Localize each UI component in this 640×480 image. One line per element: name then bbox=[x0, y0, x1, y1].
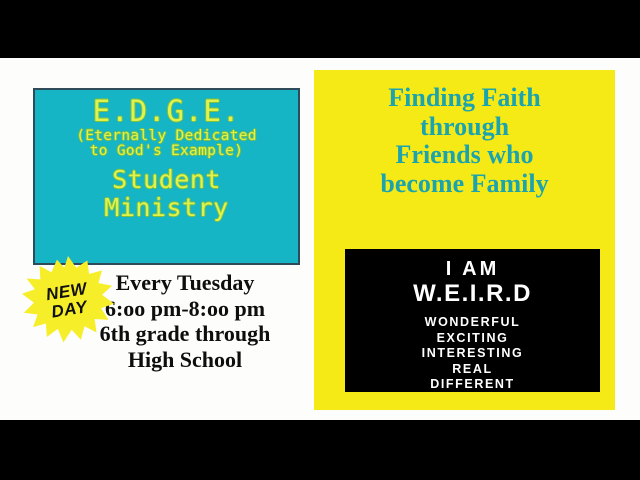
edge-name-line-2: Ministry bbox=[104, 195, 228, 221]
faith-heading-line-3: Friends who bbox=[322, 141, 607, 170]
weird-head-line-2: W.E.I.R.D bbox=[413, 281, 532, 306]
weird-meaning-list: WONDERFUL EXCITING INTERESTING REAL DIFF… bbox=[422, 315, 524, 393]
weird-head-line-1: I AM bbox=[446, 259, 499, 280]
edge-acronym-title: E.D.G.E. bbox=[93, 96, 241, 126]
edge-subtitle-line-2: to God's Example) bbox=[90, 144, 244, 159]
letterbox-bar-bottom bbox=[0, 420, 640, 480]
weird-meaning-real: REAL bbox=[422, 362, 524, 378]
new-day-line-2: DAY bbox=[50, 298, 88, 321]
edge-name-line-1: Student bbox=[112, 167, 221, 193]
new-day-badge-text: NEW DAY bbox=[16, 249, 121, 352]
edge-subtitle-line-1: (Eternally Dedicated bbox=[76, 129, 257, 144]
letterbox-bar-top bbox=[0, 0, 640, 58]
new-day-starburst-badge: NEW DAY bbox=[22, 256, 114, 346]
weird-meaning-wonderful: WONDERFUL bbox=[422, 315, 524, 331]
faith-heading-line-2: through bbox=[322, 113, 607, 142]
faith-heading: Finding Faith through Friends who become… bbox=[314, 84, 615, 198]
faith-slogan-panel: Finding Faith through Friends who become… bbox=[314, 70, 615, 410]
weird-meaning-different: DIFFERENT bbox=[422, 377, 524, 393]
edge-ministry-card: E.D.G.E. (Eternally Dedicated to God's E… bbox=[33, 88, 300, 265]
video-frame: E.D.G.E. (Eternally Dedicated to God's E… bbox=[0, 0, 640, 480]
faith-heading-line-1: Finding Faith bbox=[322, 84, 607, 113]
slide-content: E.D.G.E. (Eternally Dedicated to God's E… bbox=[0, 58, 640, 420]
faith-heading-line-4: become Family bbox=[322, 170, 607, 199]
weird-meaning-exciting: EXCITING bbox=[422, 331, 524, 347]
weird-acronym-box: I AM W.E.I.R.D WONDERFUL EXCITING INTERE… bbox=[345, 249, 600, 392]
schedule-line-school: High School bbox=[70, 347, 300, 373]
weird-meaning-interesting: INTERESTING bbox=[422, 346, 524, 362]
